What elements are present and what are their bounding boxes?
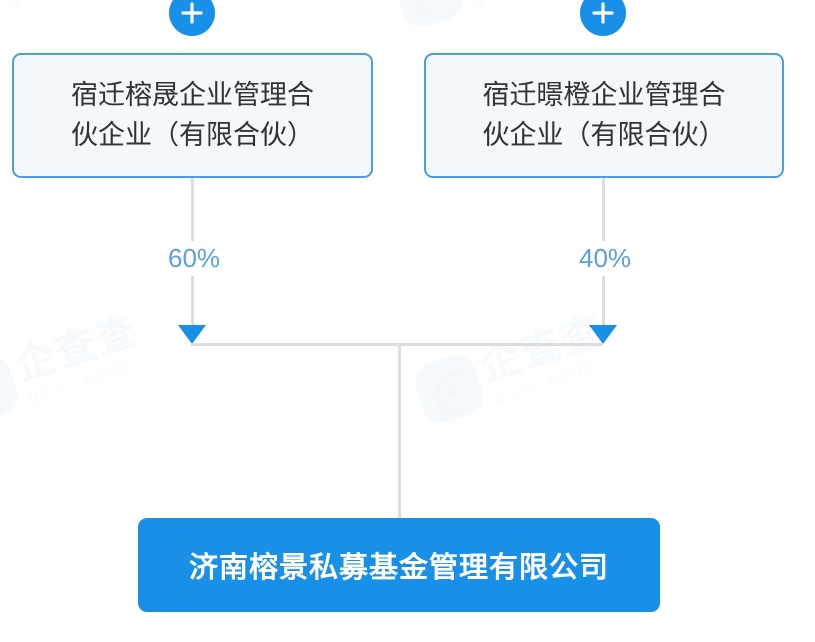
shareholder-node-2[interactable]: 宿迁暻橙企业管理合 伙企业（有限合伙） <box>424 53 784 178</box>
target-company-label: 济南榕景私募基金管理有限公司 <box>189 544 609 586</box>
shareholder-node-2-label: 宿迁暻橙企业管理合 伙企业（有限合伙） <box>467 76 742 154</box>
ownership-percent-right: 40% <box>570 241 640 276</box>
equity-structure-diagram: 企查查 qcc.com 企查查 qcc.com 企查查 qcc.com 企查查 … <box>0 0 815 642</box>
shareholder-node-2-line1: 宿迁暻橙企业管理合 <box>483 76 726 115</box>
plus-circle-icon[interactable] <box>580 0 626 36</box>
watermark-text: 企查查 qcc.com <box>475 310 614 407</box>
qcc-logo-icon <box>410 350 488 428</box>
qcc-logo-icon <box>0 350 23 428</box>
watermark-tile: 企查查 qcc.com <box>390 0 594 32</box>
watermark-en: qcc.com <box>489 353 614 407</box>
watermark-en: qcc.com <box>24 353 149 407</box>
qcc-logo-icon <box>390 0 468 32</box>
shareholder-node-1-label: 宿迁榕晟企业管理合 伙企业（有限合伙） <box>55 76 330 154</box>
shareholder-node-1[interactable]: 宿迁榕晟企业管理合 伙企业（有限合伙） <box>12 53 373 178</box>
watermark-cn: 企查查 <box>475 310 607 387</box>
plus-circle-icon[interactable] <box>169 0 215 36</box>
shareholder-node-1-line2: 伙企业（有限合伙） <box>71 116 314 155</box>
arrow-head-left <box>178 325 206 344</box>
watermark-text: 企查查 qcc.com <box>10 310 149 407</box>
target-company-node[interactable]: 济南榕景私募基金管理有限公司 <box>138 518 660 612</box>
connector-line-horizontal <box>191 343 603 346</box>
shareholder-node-1-line1: 宿迁榕晟企业管理合 <box>71 76 314 115</box>
watermark-cn: 企查查 <box>10 310 142 387</box>
watermark-tile: 企查查 qcc.com <box>410 310 614 429</box>
watermark-tile: 企查查 qcc.com <box>0 0 129 32</box>
connector-line-center <box>398 343 401 521</box>
watermark-text: 企查查 qcc.com <box>455 0 594 11</box>
ownership-percent-left: 60% <box>159 241 229 276</box>
arrow-head-right <box>589 325 617 344</box>
qcc-logo-icon <box>0 0 3 32</box>
shareholder-node-2-line2: 伙企业（有限合伙） <box>483 116 726 155</box>
watermark-text: 企查查 qcc.com <box>0 0 129 11</box>
watermark-tile: 企查查 qcc.com <box>0 310 149 429</box>
watermark-en: qcc.com <box>469 0 594 11</box>
watermark-en: qcc.com <box>4 0 129 11</box>
